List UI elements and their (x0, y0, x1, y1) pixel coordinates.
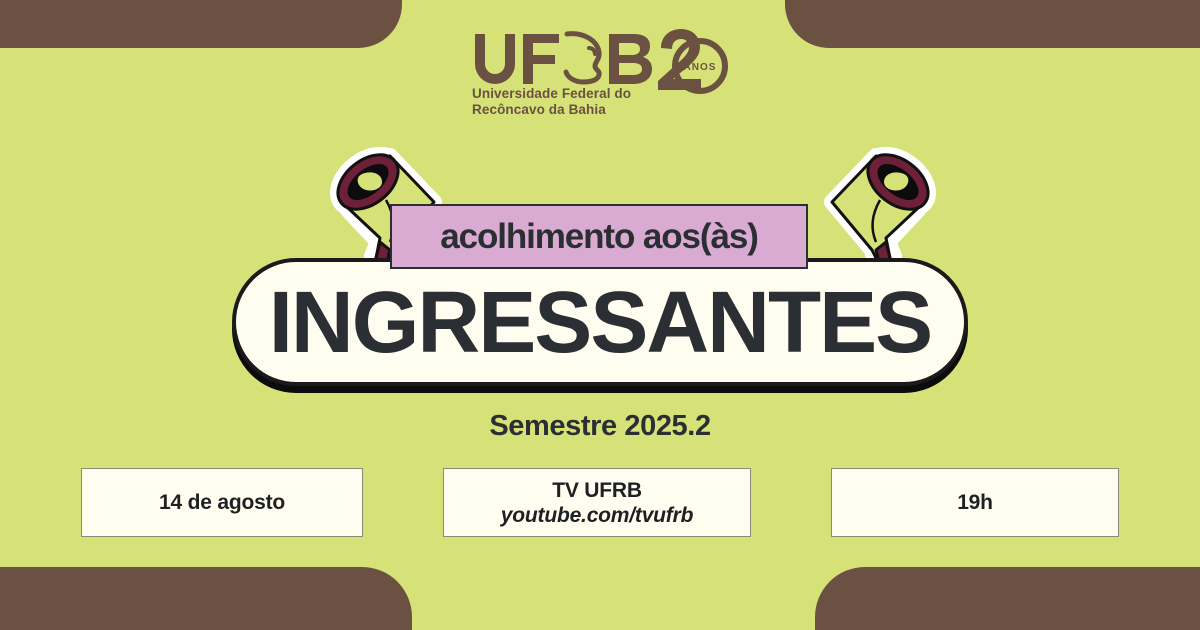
corner-bottom-right (815, 567, 1200, 630)
info-box-date: 14 de agosto (81, 468, 363, 537)
headline-pill: INGRESSANTES (232, 258, 968, 386)
semester-label: Semestre 2025.2 (0, 410, 1200, 443)
banner-text: acolhimento aos(às) (440, 217, 758, 257)
event-time: 19h (957, 490, 993, 515)
channel-url[interactable]: youtube.com/tvufrb (501, 503, 693, 528)
anos-label: ANOS (684, 62, 717, 73)
info-boxes: 14 de agosto TV UFRB youtube.com/tvufrb … (0, 468, 1200, 537)
acolhimento-banner: acolhimento aos(às) (390, 204, 808, 269)
corner-bottom-left (0, 567, 412, 630)
channel-name: TV UFRB (552, 478, 642, 503)
ufrb-logo: ANOS Universidade Federal do Recôncavo d… (0, 26, 1200, 126)
page-title: INGRESSANTES (269, 279, 931, 366)
event-date: 14 de agosto (159, 490, 285, 515)
info-box-channel: TV UFRB youtube.com/tvufrb (443, 468, 751, 537)
ufrb-logo-subtitle: Universidade Federal do Recôncavo da Bah… (472, 86, 631, 117)
info-box-time: 19h (831, 468, 1119, 537)
